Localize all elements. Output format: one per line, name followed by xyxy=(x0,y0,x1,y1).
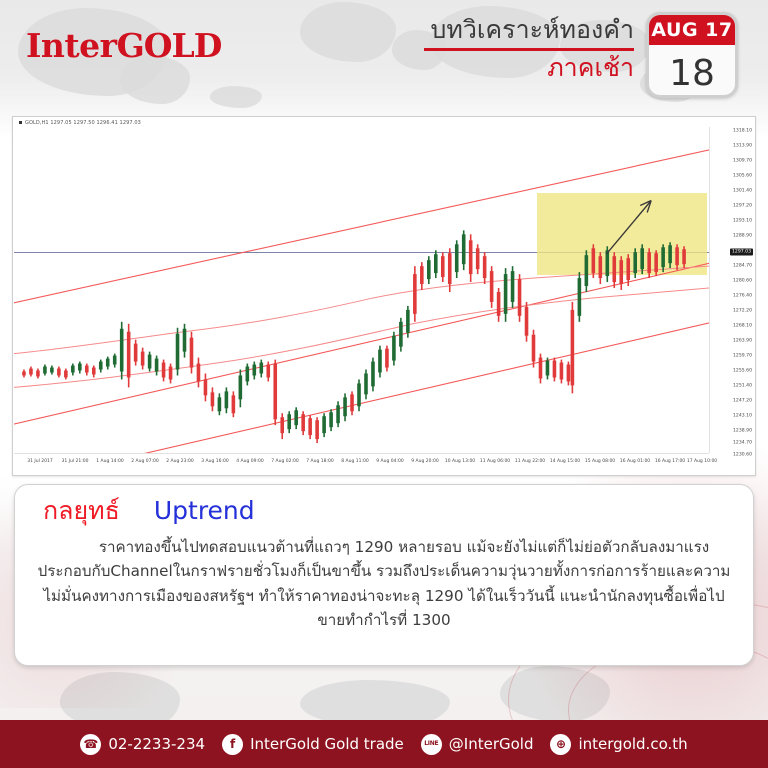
x-tick: 9 Aug 04:00 xyxy=(376,459,403,464)
y-tick: 1247.20 xyxy=(733,399,752,404)
ma-fast-line xyxy=(14,266,709,353)
x-tick: 2 Aug 07:00 xyxy=(131,459,158,464)
chart-price-axis: 1318.10 1313.90 1309.70 1305.60 1301.40 … xyxy=(709,127,755,453)
x-tick: 17 Aug 10:00 xyxy=(687,459,717,464)
x-tick: 7 Aug 02:00 xyxy=(271,459,298,464)
strategy-label-en: Uptrend xyxy=(154,497,255,525)
channel-outer-lower-line xyxy=(14,322,709,453)
chart-time-axis: 31 Jul 2017 31 Jul 21:00 1 Aug 14:00 2 A… xyxy=(14,453,709,475)
footer-facebook-label: InterGold Gold trade xyxy=(250,735,404,753)
page-header: InterGOLD บทวิเคราะห์ทองคำ ภาคเช้า AUG 1… xyxy=(0,0,768,106)
x-tick: 16 Aug 01:00 xyxy=(620,459,650,464)
facebook-icon: f xyxy=(222,734,243,755)
footer-item-line[interactable]: LINE @InterGold xyxy=(421,734,534,755)
y-tick: 1301.40 xyxy=(733,189,752,194)
x-tick: 8 Aug 11:00 xyxy=(341,459,368,464)
brand-logo-gold: GOLD xyxy=(117,26,222,65)
x-tick: 11 Aug 06:00 xyxy=(480,459,510,464)
y-tick: 1251.40 xyxy=(733,384,752,389)
channel-upper-line xyxy=(14,149,709,304)
footer-phone-label: 02-2233-234 xyxy=(108,735,205,753)
ma-slow-line xyxy=(14,288,709,387)
x-tick: 15 Aug 08:00 xyxy=(585,459,615,464)
calendar-month-label: AUG 17 xyxy=(649,15,735,45)
strategy-card-header: กลยุทธ์ Uptrend xyxy=(33,497,735,525)
x-tick: 31 Jul 21:00 xyxy=(62,459,89,464)
header-divider-rule xyxy=(424,48,634,51)
y-tick: 1288.90 xyxy=(733,234,752,239)
brand-logo-inter: Inter xyxy=(26,26,117,65)
y-tick: 1305.60 xyxy=(733,174,752,179)
y-tick: 1309.70 xyxy=(733,159,752,164)
chart-vector-overlay xyxy=(14,127,709,453)
footer-item-phone[interactable]: ☎ 02-2233-234 xyxy=(80,734,205,755)
y-tick: 1280.60 xyxy=(733,279,752,284)
square-bullet-icon xyxy=(19,121,22,124)
price-chart-panel[interactable]: GOLD,H1 1297.05 1297.50 1296.41 1297.03 xyxy=(12,116,756,476)
strategy-label-th: กลยุทธ์ xyxy=(43,497,120,525)
line-app-icon: LINE xyxy=(421,734,442,755)
x-tick: 9 Aug 20:00 xyxy=(411,459,438,464)
x-tick: 2 Aug 23:00 xyxy=(166,459,193,464)
contact-footer: ☎ 02-2233-234 f InterGold Gold trade LIN… xyxy=(0,720,768,768)
calendar-badge: AUG 17 18 xyxy=(646,12,738,98)
calendar-day-label: 18 xyxy=(649,45,735,98)
x-tick: 16 Aug 17:00 xyxy=(655,459,685,464)
strategy-card: กลยุทธ์ Uptrend ราคาทองขึ้นไปทดสอบแนวต้า… xyxy=(14,484,754,666)
y-tick: 1276.40 xyxy=(733,294,752,299)
header-title-th: บทวิเคราะห์ทองคำ xyxy=(314,16,634,44)
y-tick: 1238.90 xyxy=(733,429,752,434)
y-tick: 1284.70 xyxy=(733,264,752,269)
moving-average-lines xyxy=(14,266,709,387)
channel-lower-line xyxy=(14,262,709,425)
chart-plot-area xyxy=(14,127,709,453)
x-tick: 7 Aug 18:00 xyxy=(306,459,333,464)
x-tick: 11 Aug 22:00 xyxy=(515,459,545,464)
x-tick: 3 Aug 16:00 xyxy=(201,459,228,464)
y-tick: 1268.10 xyxy=(733,324,752,329)
strategy-body-text: ราคาทองขึ้นไปทดสอบแนวต้านที่แถวๆ 1290 หล… xyxy=(33,535,735,634)
footer-website-label: intergold.co.th xyxy=(578,735,687,753)
y-tick: 1255.60 xyxy=(733,369,752,374)
header-title-block: บทวิเคราะห์ทองคำ ภาคเช้า xyxy=(314,16,634,44)
brand-logo: InterGOLD xyxy=(26,26,221,65)
projected-uptrend-arrow xyxy=(606,201,651,255)
poster-root: InterGOLD บทวิเคราะห์ทองคำ ภาคเช้า AUG 1… xyxy=(0,0,768,768)
y-tick: 1313.90 xyxy=(733,144,752,149)
y-tick: 1263.90 xyxy=(733,339,752,344)
header-subtitle-th: ภาคเช้า xyxy=(314,54,634,82)
chart-symbol-text: GOLD,H1 1297.05 1297.50 1296.41 1297.03 xyxy=(25,120,141,126)
y-tick: 1318.10 xyxy=(733,129,752,134)
current-price-tag: 1297.03 xyxy=(730,249,753,256)
x-tick: 14 Aug 15:00 xyxy=(550,459,580,464)
x-tick: 1 Aug 14:00 xyxy=(96,459,123,464)
y-tick: 1272.20 xyxy=(733,309,752,314)
x-tick: 4 Aug 09:00 xyxy=(236,459,263,464)
chart-symbol-label: GOLD,H1 1297.05 1297.50 1296.41 1297.03 xyxy=(19,120,141,126)
x-tick: 10 Aug 13:00 xyxy=(445,459,475,464)
y-tick: 1243.10 xyxy=(733,414,752,419)
y-tick: 1297.20 xyxy=(733,204,752,209)
globe-icon: ⊕ xyxy=(550,734,571,755)
footer-item-facebook[interactable]: f InterGold Gold trade xyxy=(222,734,404,755)
y-tick: 1234.70 xyxy=(733,441,752,446)
y-tick: 1293.10 xyxy=(733,219,752,224)
y-tick: 1230.60 xyxy=(733,453,752,458)
footer-item-website[interactable]: ⊕ intergold.co.th xyxy=(550,734,687,755)
y-tick: 1259.70 xyxy=(733,354,752,359)
footer-line-label: @InterGold xyxy=(449,735,534,753)
phone-icon: ☎ xyxy=(80,734,101,755)
x-tick: 31 Jul 2017 xyxy=(27,459,52,464)
